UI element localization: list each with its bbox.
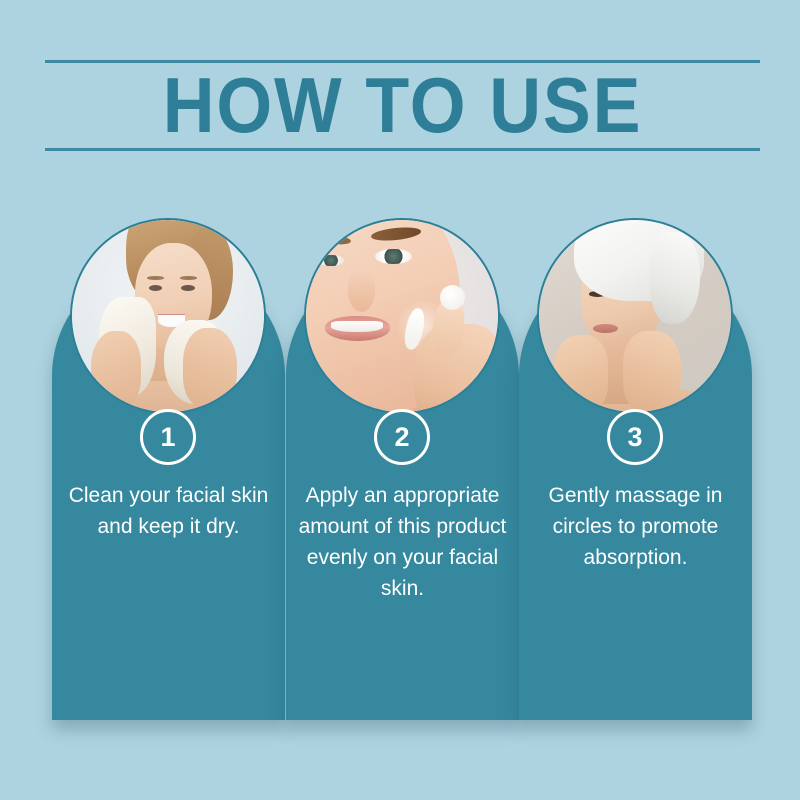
step-card-2[interactable]: 2 Apply an appropriate amount of this pr… (286, 218, 519, 720)
steps-row: 1 Clean your facial skin and keep it dry… (52, 218, 752, 728)
woman-with-towel-turban-massaging-face-image (539, 220, 731, 412)
step-text-2: Apply an appropriate amount of this prod… (296, 480, 509, 604)
step-badge-3: 3 (607, 409, 663, 465)
step-number-2: 2 (394, 424, 409, 451)
title-block: HOW TO USE (45, 55, 760, 155)
step-card-3[interactable]: 3 Gently massage in circles to promote a… (519, 218, 752, 720)
step-badge-1: 1 (140, 409, 196, 465)
title-rule-bottom (45, 148, 760, 151)
woman-applying-cream-to-cheek-image (306, 220, 498, 412)
step-number-3: 3 (627, 424, 642, 451)
page-title: HOW TO USE (74, 64, 732, 146)
step-card-1[interactable]: 1 Clean your facial skin and keep it dry… (52, 218, 285, 720)
step-photo-3 (537, 218, 733, 414)
infographic-canvas: HOW TO USE (0, 0, 800, 800)
step-badge-2: 2 (374, 409, 430, 465)
woman-drying-face-with-towel-image (72, 220, 264, 412)
step-photo-2 (304, 218, 500, 414)
step-photo-1 (70, 218, 266, 414)
step-text-1: Clean your facial skin and keep it dry. (62, 480, 275, 542)
step-number-1: 1 (160, 424, 175, 451)
step-text-3: Gently massage in circles to promote abs… (529, 480, 742, 573)
